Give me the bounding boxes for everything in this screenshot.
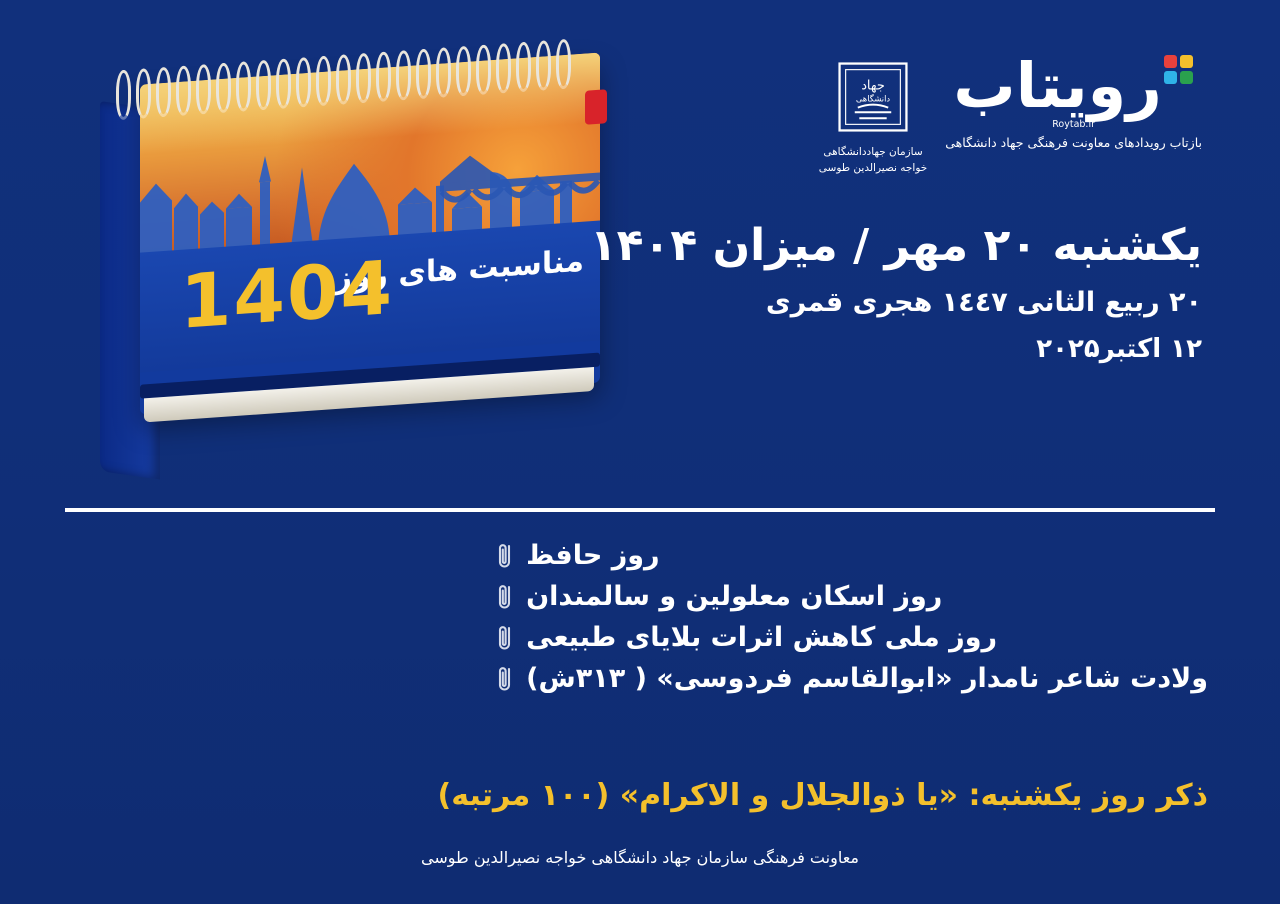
spiral-ring bbox=[456, 46, 471, 97]
spiral-ring bbox=[296, 57, 311, 108]
spiral-ring bbox=[376, 51, 391, 102]
spiral-ring bbox=[136, 68, 151, 119]
occasion-text: روز ملی کاهش اثرات بلایای طبیعی bbox=[526, 622, 997, 653]
jahad-logo: جهاد دانشگاهی سازمان جهاددانشگاهی خواجه … bbox=[819, 55, 928, 177]
roytab-tagline: بازتاب رویدادهای معاونت فرهنگی جهاد دانش… bbox=[945, 135, 1202, 150]
jahad-org-line2: خواجه نصیرالدین طوسی bbox=[819, 161, 928, 177]
jahad-org-line1: سازمان جهاددانشگاهی bbox=[819, 145, 928, 161]
roytab-wordmark: رویتاب bbox=[953, 49, 1161, 122]
daily-zekr: ذکر روز یکشنبه: «یا ذوالجلال و الاکرام» … bbox=[438, 778, 1208, 813]
spiral-ring bbox=[196, 64, 211, 115]
logo-group: رویتاب Roytab.ir بازتاب رویدادهای معاونت… bbox=[819, 55, 1202, 177]
roytab-wordmark-row: رویتاب bbox=[945, 55, 1202, 117]
spiral-ring bbox=[316, 55, 331, 106]
spiral-ring bbox=[436, 47, 451, 98]
spiral-ring bbox=[256, 60, 271, 111]
spiral-ring bbox=[496, 43, 511, 94]
spiral-ring bbox=[116, 69, 131, 120]
paperclip-icon bbox=[494, 623, 516, 653]
svg-text:دانشگاهی: دانشگاهی bbox=[856, 94, 891, 104]
spiral-ring bbox=[356, 53, 371, 104]
svg-text:جهاد: جهاد bbox=[861, 78, 885, 93]
calendar-year: 1404 bbox=[180, 245, 394, 346]
occasion-text: روز حافظ bbox=[526, 540, 659, 571]
list-item: روز اسکان معلولین و سالمندان bbox=[494, 581, 1208, 612]
spiral-ring bbox=[516, 41, 531, 92]
gregorian-date: ۱۲ اکتبر۲۰۲۵ bbox=[590, 334, 1202, 364]
spiral-ring bbox=[176, 65, 191, 116]
paperclip-icon bbox=[494, 582, 516, 612]
calendar-red-bookmark bbox=[585, 89, 607, 125]
jahad-emblem-icon: جهاد دانشگاهی bbox=[834, 59, 912, 135]
spiral-ring bbox=[216, 62, 231, 113]
paperclip-icon bbox=[494, 664, 516, 694]
spiral-ring bbox=[396, 50, 411, 101]
spiral-ring bbox=[536, 40, 551, 91]
occasion-text: ولادت شاعر نامدار «ابوالقاسم فردوسی» ( ۳… bbox=[526, 663, 1208, 694]
list-item: روز حافظ bbox=[494, 540, 1208, 571]
occasion-text: روز اسکان معلولین و سالمندان bbox=[526, 581, 942, 612]
spiral-ring bbox=[336, 54, 351, 105]
roytab-dots-icon bbox=[1164, 55, 1194, 85]
horizontal-divider bbox=[65, 508, 1215, 512]
solar-date: یکشنبه ۲۰ مهر / میزان ۱۴۰۴ bbox=[590, 218, 1202, 273]
calendar-body: مناسبت های روز 1404 bbox=[100, 53, 600, 478]
top-section: مناسبت های روز 1404 رویتاب bbox=[0, 0, 1280, 500]
spiral-ring bbox=[236, 61, 251, 112]
spiral-ring bbox=[416, 48, 431, 99]
spiral-ring bbox=[556, 39, 571, 90]
calendar-photo: مناسبت های روز 1404 bbox=[70, 30, 630, 480]
hijri-date: ۲۰ ربیع الثانی ۱٤٤٧ هجری قمری bbox=[590, 287, 1202, 318]
spiral-ring bbox=[156, 67, 171, 118]
list-item: ولادت شاعر نامدار «ابوالقاسم فردوسی» ( ۳… bbox=[494, 663, 1208, 694]
date-block: یکشنبه ۲۰ مهر / میزان ۱۴۰۴ ۲۰ ربیع الثان… bbox=[590, 218, 1202, 364]
list-item: روز ملی کاهش اثرات بلایای طبیعی bbox=[494, 622, 1208, 653]
roytab-logo: رویتاب Roytab.ir بازتاب رویدادهای معاونت… bbox=[945, 55, 1202, 150]
occasions-list: روز حافظ روز اسکان معلولین و سالمندان رو… bbox=[494, 540, 1208, 704]
paperclip-icon bbox=[494, 541, 516, 571]
footer-credit: معاونت فرهنگی سازمان جهاد دانشگاهی خواجه… bbox=[0, 848, 1280, 867]
spiral-ring bbox=[476, 44, 491, 95]
poster-root: مناسبت های روز 1404 رویتاب bbox=[0, 0, 1280, 904]
spiral-ring bbox=[276, 58, 291, 109]
